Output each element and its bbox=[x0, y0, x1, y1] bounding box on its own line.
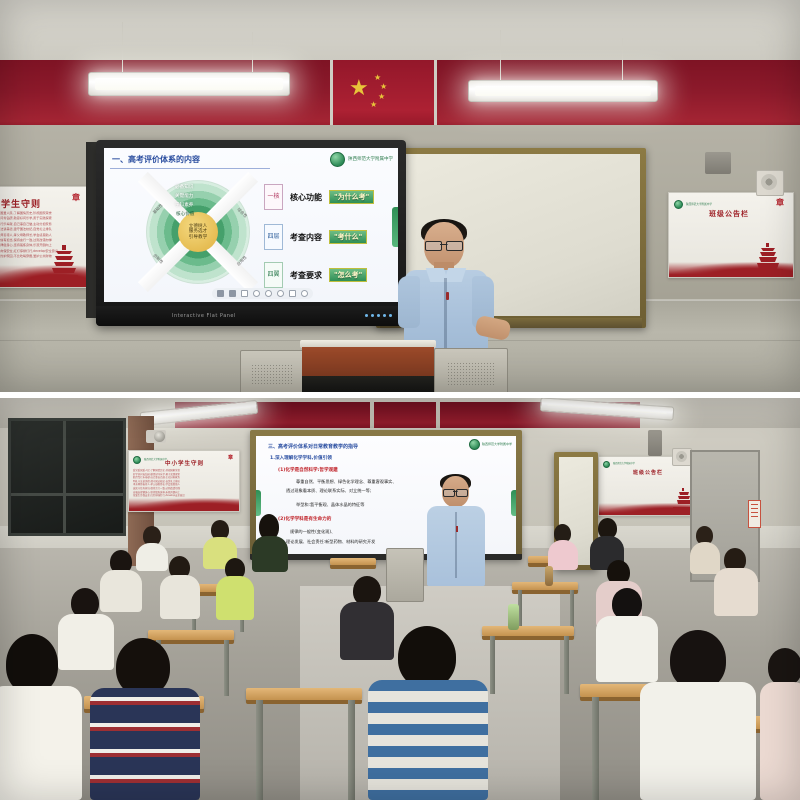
flag-small-star-icon: ★ bbox=[378, 93, 385, 101]
body bbox=[548, 540, 578, 570]
vent-fan-icon bbox=[761, 174, 777, 190]
student bbox=[216, 558, 254, 618]
poster-title: 学生守则 bbox=[1, 197, 41, 210]
title-underline bbox=[110, 168, 270, 169]
seal-stamp-icon: 章 bbox=[72, 192, 80, 203]
shirt-placket bbox=[455, 512, 457, 578]
pocket-pen bbox=[456, 526, 458, 532]
speaker-cabinet-right bbox=[434, 348, 508, 392]
section-body-line: 规律的一般性(变化观)、 bbox=[290, 529, 335, 535]
evaluation-wheel-diagram: 立德树人 服务选才 引导教学 必备知识 关键能力 学科素养 核心价值 基础性 综… bbox=[146, 180, 250, 284]
flag-small-star-icon: ★ bbox=[370, 101, 377, 109]
pen-icon[interactable] bbox=[241, 290, 248, 297]
flag-large-star-icon: ★ bbox=[349, 78, 369, 100]
school-logo-icon bbox=[469, 439, 480, 450]
wheel-center-line: 引导教学 bbox=[189, 235, 207, 240]
desk bbox=[482, 626, 574, 636]
school-name: 陕西师范大学附属中学 bbox=[348, 157, 393, 162]
wheel-ring-label: 必备知识 bbox=[175, 184, 193, 190]
camera-lens-icon bbox=[154, 431, 165, 442]
student-code-poster: 陕西师范大学附属中学 中小学生守则 爱党爱国爱人民,了解国情历史,珍视国家荣誉 … bbox=[128, 450, 240, 512]
body bbox=[714, 568, 758, 616]
desk-leg bbox=[256, 700, 263, 800]
row-badge: 一核 bbox=[264, 184, 283, 210]
student bbox=[0, 634, 82, 800]
student bbox=[90, 638, 200, 800]
rect-icon[interactable] bbox=[289, 290, 296, 297]
wheel-ring-label: 核心价值 bbox=[176, 211, 194, 217]
window-mullion bbox=[63, 421, 66, 533]
desk-leg bbox=[564, 636, 569, 694]
lamp-wire bbox=[122, 22, 123, 74]
window-mullion bbox=[11, 493, 123, 496]
body bbox=[368, 680, 488, 800]
slide-side-tab-right[interactable] bbox=[511, 490, 516, 516]
student bbox=[714, 548, 758, 614]
cursor-icon[interactable] bbox=[229, 290, 236, 297]
status-leds bbox=[365, 314, 392, 317]
school-name: 陕西师范大学附属中学 bbox=[144, 459, 167, 462]
slide-row-1: 一核 核心功能 "为什么考" bbox=[264, 184, 374, 210]
section-body-line: 尊重自然、平衡思想、绿色化学理念、尊重客观事实、 bbox=[296, 479, 397, 485]
bulletin-title: 班级公告栏 bbox=[709, 209, 749, 219]
pocket-pen bbox=[446, 292, 449, 300]
head bbox=[670, 630, 726, 690]
lamp-wire bbox=[500, 30, 501, 80]
school-name: 陕西师范大学附属中学 bbox=[482, 443, 512, 446]
body bbox=[90, 688, 200, 800]
slide-title: 一、高考评价体系的内容 bbox=[112, 154, 200, 165]
board-ink-wash bbox=[669, 262, 793, 277]
board-ink-wash bbox=[599, 503, 703, 515]
student bbox=[252, 514, 288, 570]
desk-leg bbox=[592, 697, 599, 800]
bottom-photograph: 陕西师范大学附属中学 中小学生守则 爱党爱国爱人民,了解国情历史,珍视国家荣誉 … bbox=[0, 398, 800, 800]
lamp-wire bbox=[622, 38, 623, 80]
zoom-icon[interactable] bbox=[277, 290, 284, 297]
device-brand-label: Interactive Flat Panel bbox=[172, 313, 236, 319]
speaker-grille bbox=[447, 362, 496, 385]
body bbox=[252, 536, 288, 572]
smartboard-screen[interactable]: 一、高考评价体系的内容 陕西师范大学附属中学 立德树人 服务选才 引导教学 bbox=[104, 148, 398, 302]
desk-leg bbox=[490, 636, 495, 694]
wall-speaker bbox=[705, 152, 731, 174]
school-name: 陕西师范大学附属中学 bbox=[613, 463, 635, 466]
slide-row-3: 四翼 考查要求 "怎么考" bbox=[264, 262, 367, 288]
section-body-line: 透过现象看本质、理论联系实际、对立统一等; bbox=[286, 488, 371, 494]
window bbox=[8, 418, 126, 536]
wall-speaker bbox=[648, 430, 662, 456]
poster-ink-wash bbox=[129, 498, 239, 511]
wheel-ring-label: 关键能力 bbox=[175, 193, 193, 199]
student bbox=[760, 648, 800, 800]
poster-title: 中小学生守则 bbox=[165, 459, 204, 467]
fluorescent-tube bbox=[475, 86, 651, 96]
water-bottle bbox=[508, 604, 519, 630]
school-logo-icon bbox=[603, 461, 610, 468]
lectern-body bbox=[302, 347, 434, 377]
desk bbox=[330, 558, 376, 565]
vent-fan-icon bbox=[676, 451, 687, 462]
glasses-icon bbox=[443, 489, 468, 495]
school-logo-icon bbox=[133, 456, 141, 464]
seal-stamp-icon: 章 bbox=[228, 454, 233, 461]
classroom-photo-composite: ★ ★ ★ ★ ★ 学生守则 爱党爱国爱人民,了解国情历史,珍视国家荣誉 好学多… bbox=[0, 0, 800, 800]
student-code-poster: 学生守则 爱党爱国爱人民,了解国情历史,珍视国家荣誉 好学多问肯钻研,勤思好问乐… bbox=[0, 186, 88, 288]
student bbox=[160, 556, 200, 618]
desk-leg bbox=[224, 640, 229, 696]
fluorescent-tube bbox=[547, 404, 667, 414]
glasses-icon bbox=[425, 241, 463, 249]
section-body-line: 举型和:氢平衡观、晶体水晶的特征等 bbox=[296, 502, 364, 508]
body bbox=[216, 576, 254, 620]
row-label: 核心功能 bbox=[290, 192, 322, 203]
body bbox=[640, 682, 756, 800]
head bbox=[398, 626, 456, 688]
wheel-ring-label: 学科素养 bbox=[175, 202, 193, 208]
slide-side-tab-left[interactable] bbox=[256, 490, 261, 516]
wheel-diagonal-label: 基础性 bbox=[152, 203, 165, 216]
head bbox=[768, 648, 800, 686]
row-chip: "考什么" bbox=[329, 230, 367, 244]
ceiling-light-left bbox=[88, 72, 290, 96]
ceiling-light-right bbox=[468, 80, 658, 102]
wheel-diagonal-label: 综合性 bbox=[236, 207, 249, 220]
desk-leg bbox=[348, 700, 355, 800]
smartboard-toolbar[interactable] bbox=[212, 288, 313, 299]
more-icon[interactable] bbox=[301, 290, 308, 297]
fire-extinguisher-sign bbox=[748, 500, 761, 528]
head bbox=[6, 634, 58, 694]
body bbox=[760, 682, 800, 800]
presentation-slide-1: 一、高考评价体系的内容 陕西师范大学附属中学 立德树人 服务选才 引导教学 bbox=[104, 148, 398, 302]
school-name: 陕西师范大学附属中学 bbox=[686, 203, 712, 206]
school-emblem: 陕西师范大学附属中学 bbox=[133, 456, 167, 464]
pause-icon[interactable] bbox=[217, 290, 224, 297]
fluorescent-tube bbox=[95, 78, 283, 90]
desk bbox=[246, 688, 362, 700]
body bbox=[160, 575, 200, 619]
red-wall-panel-left bbox=[0, 60, 330, 132]
bulletin-title: 班级公告栏 bbox=[633, 469, 663, 476]
slide-row-2: 四层 考查内容 "考什么" bbox=[264, 224, 367, 250]
school-emblem: 陕西师范大学附属中学 bbox=[603, 461, 635, 468]
student bbox=[548, 524, 578, 568]
lectern-base bbox=[302, 376, 434, 392]
slide-title: 三、高考评价体系对日常教育教学的指导 bbox=[268, 443, 358, 450]
flag-small-star-icon: ★ bbox=[374, 74, 381, 82]
lectern bbox=[300, 340, 436, 392]
seal-stamp-icon: 章 bbox=[776, 197, 784, 208]
top-photograph: ★ ★ ★ ★ ★ 学生守则 爱党爱国爱人民,了解国情历史,珍视国家荣誉 好学多… bbox=[0, 0, 800, 392]
smartboard-bezel: Interactive Flat Panel bbox=[96, 306, 406, 326]
speaker-cabinet-left bbox=[240, 350, 304, 392]
surveillance-camera bbox=[146, 430, 166, 443]
lamp-wire bbox=[252, 32, 253, 74]
eraser-icon[interactable] bbox=[253, 290, 260, 297]
wall-vent bbox=[756, 170, 784, 196]
wheel-center: 立德树人 服务选才 引导教学 bbox=[178, 212, 218, 252]
class-bulletin-board: 陕西师范大学附属中学 班级公告栏 章 bbox=[668, 192, 794, 278]
chinese-flag: ★ ★ ★ ★ ★ bbox=[330, 60, 437, 132]
row-badge: 四翼 bbox=[264, 262, 283, 288]
left-sleeve bbox=[398, 276, 420, 328]
interactive-smartboard[interactable]: 一、高考评价体系的内容 陕西师范大学附属中学 立德树人 服务选才 引导教学 bbox=[96, 140, 406, 326]
row-chip: "怎么考" bbox=[329, 268, 367, 282]
shape-icon[interactable] bbox=[265, 290, 272, 297]
water-bottle bbox=[545, 566, 553, 586]
poster-ink-wash bbox=[0, 265, 87, 287]
student bbox=[368, 626, 488, 800]
student bbox=[640, 630, 756, 800]
row-label: 考查要求 bbox=[290, 270, 322, 281]
school-logo-icon bbox=[674, 200, 683, 209]
section-subheading: (1)化学是自然科学:哲学观建 bbox=[278, 467, 338, 473]
flag-small-star-icon: ★ bbox=[380, 83, 387, 91]
school-emblem: 陕西师范大学附属中学 bbox=[674, 200, 712, 209]
section-heading: 1.深入理解化学学科,价值引领 bbox=[270, 455, 332, 461]
body bbox=[0, 686, 82, 800]
presenter bbox=[425, 476, 487, 586]
section-body-line: 理论发展、社会责任:新型药物、材料的研究开发 bbox=[286, 539, 375, 545]
row-badge: 四层 bbox=[264, 224, 283, 250]
air-conditioner-vent bbox=[672, 448, 692, 466]
school-logo: 陕西师范大学附属中学 bbox=[330, 152, 393, 167]
school-logo: 陕西师范大学附属中学 bbox=[469, 439, 512, 450]
speaker-grille bbox=[251, 364, 293, 386]
row-chip: "为什么考" bbox=[329, 190, 374, 204]
school-logo-icon bbox=[330, 152, 345, 167]
row-label: 考查内容 bbox=[290, 232, 322, 243]
shirt-placket bbox=[444, 278, 447, 356]
